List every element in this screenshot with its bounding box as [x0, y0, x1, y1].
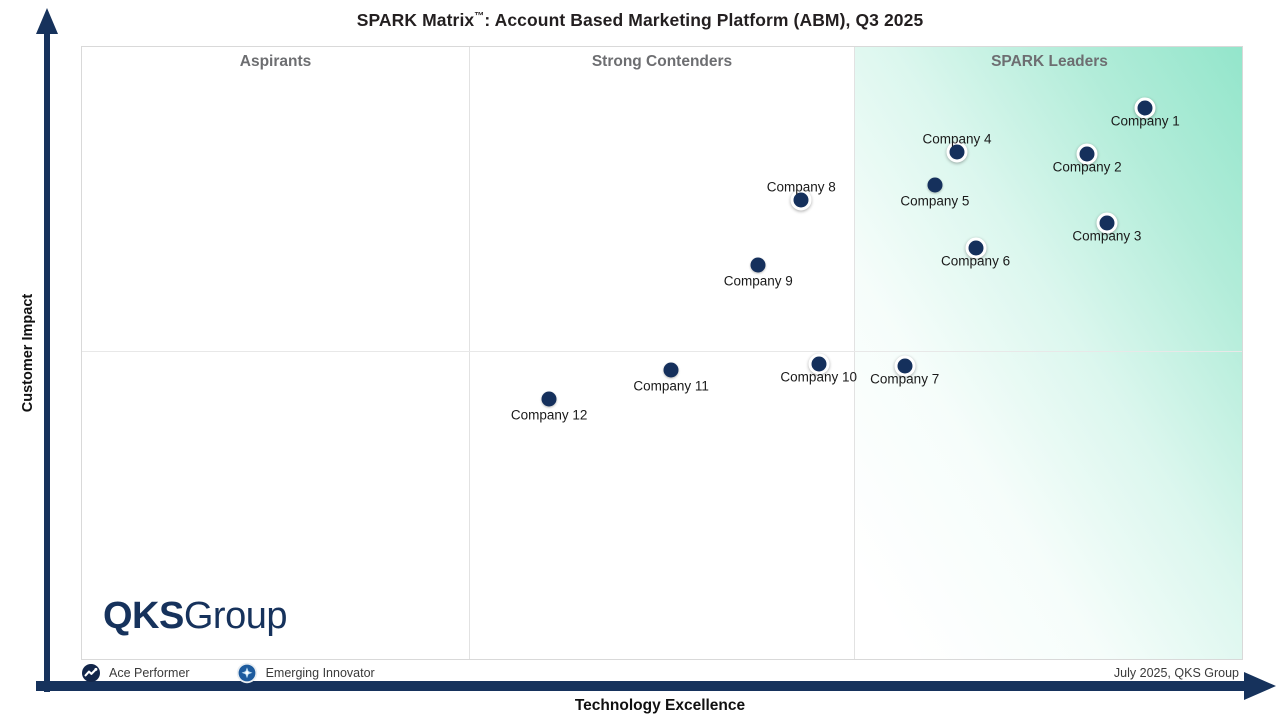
legend-item-emerging-innovator[interactable]: Emerging Innovator: [236, 662, 375, 684]
x-axis-label: Technology Excellence: [370, 697, 950, 715]
legend-label-emerging-innovator: Emerging Innovator: [266, 666, 375, 680]
legend-date-note: July 2025, QKS Group: [1114, 666, 1243, 680]
spark-leaders-region: [854, 47, 1243, 660]
data-point-marker: [542, 392, 557, 407]
data-point[interactable]: Company 3: [1096, 212, 1117, 233]
plot-area: Aspirants Strong Contenders SPARK Leader…: [81, 46, 1243, 660]
data-point[interactable]: Company 5: [927, 178, 942, 193]
qks-group-logo: QKSGroup: [103, 597, 287, 635]
quadrant-label-aspirants: Aspirants: [82, 53, 469, 71]
page-title: SPARK Matrix™: Account Based Marketing P…: [0, 10, 1280, 31]
data-point-label: Company 7: [870, 372, 939, 387]
data-point-label: Company 9: [724, 273, 793, 288]
data-point-label: Company 4: [922, 131, 991, 146]
data-point[interactable]: Company 10: [808, 353, 829, 374]
legend-label-ace-performer: Ace Performer: [109, 666, 190, 680]
emerging-innovator-icon: [236, 662, 258, 684]
legend-bar: Ace Performer Emerging Innovator July 20…: [81, 660, 1243, 686]
logo-word: Group: [184, 595, 287, 637]
data-point-marker: [927, 178, 942, 193]
data-point[interactable]: Company 9: [751, 257, 766, 272]
ace-performer-icon: [81, 663, 101, 683]
data-point-label: Company 2: [1053, 159, 1122, 174]
data-point[interactable]: Company 7: [894, 356, 915, 377]
quadrant-divider-right: [854, 47, 855, 660]
y-axis-label: Customer Impact: [20, 263, 36, 443]
data-point[interactable]: Company 11: [664, 362, 679, 377]
data-point-marker: [751, 257, 766, 272]
quadrant-divider-left: [469, 47, 470, 660]
quadrant-divider-horizontal: [82, 351, 1243, 352]
quadrant-label-strong-contenders: Strong Contenders: [470, 53, 854, 71]
y-axis-arrow-icon: [36, 8, 58, 692]
trademark-symbol: ™: [474, 11, 484, 22]
data-point-label: Company 3: [1072, 228, 1141, 243]
data-point[interactable]: Company 6: [965, 237, 986, 258]
data-point-label: Company 1: [1111, 113, 1180, 128]
data-point-label: Company 5: [900, 194, 969, 209]
title-rest: : Account Based Marketing Platform (ABM)…: [484, 10, 923, 30]
data-point-label: Company 6: [941, 253, 1010, 268]
data-point[interactable]: Company 12: [542, 392, 557, 407]
title-main: SPARK Matrix: [357, 10, 475, 30]
logo-mark: QKS: [103, 595, 184, 637]
data-point[interactable]: Company 1: [1135, 97, 1156, 118]
data-point[interactable]: Company 2: [1077, 143, 1098, 164]
data-point-marker: [664, 362, 679, 377]
data-point-label: Company 11: [633, 378, 709, 393]
quadrant-label-spark-leaders: SPARK Leaders: [855, 53, 1243, 71]
data-point[interactable]: Company 4: [946, 141, 967, 162]
data-point[interactable]: Company 8: [791, 189, 812, 210]
data-point-label: Company 8: [767, 179, 836, 194]
legend-item-ace-performer[interactable]: Ace Performer: [81, 663, 190, 683]
data-point-label: Company 12: [511, 408, 588, 423]
data-point-label: Company 10: [780, 369, 857, 384]
